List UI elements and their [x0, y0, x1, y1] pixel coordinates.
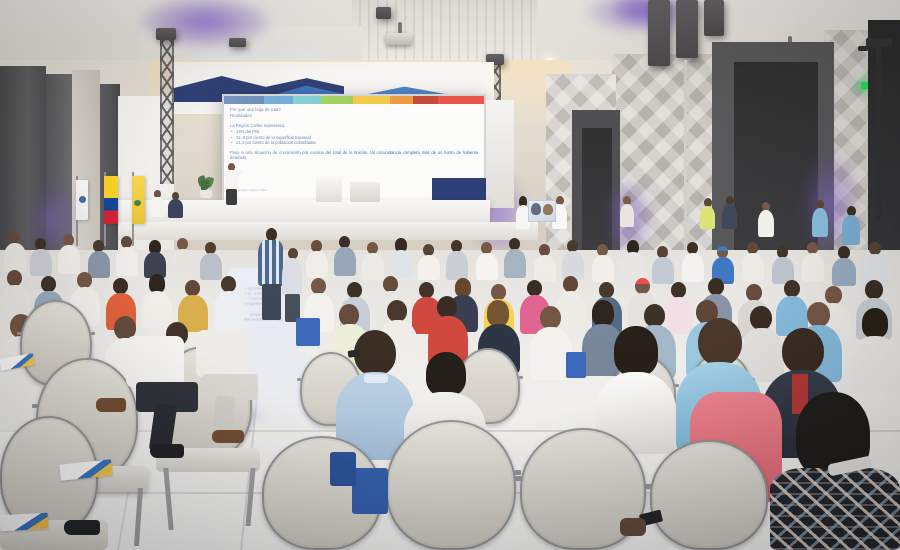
a-m18-head: [671, 282, 686, 298]
audience-back-7: [172, 238, 194, 278]
chair-fg-7: [650, 440, 768, 550]
audience-back-8: [200, 242, 222, 280]
a-fm11-head: [644, 304, 665, 327]
a-fm15-torso: [850, 336, 900, 392]
a-m9-head: [347, 282, 362, 298]
conference-hall-photo: Por qué una hoja de ruta? Realidades La …: [0, 0, 900, 550]
slide-bullet-3: 21,4 por ciento de la población colombia…: [230, 140, 478, 145]
plant-leaf-3: [201, 180, 209, 190]
back-standing-1-torso: [620, 204, 634, 227]
presenter-legs: [226, 189, 237, 205]
audience-back-3: [58, 234, 80, 274]
audience-back-13: [418, 244, 440, 280]
a-b9-torso: [306, 251, 328, 278]
truss-light-left: [156, 28, 176, 40]
audience-back-11: [362, 242, 384, 280]
audience-back-24: [742, 242, 764, 282]
a-m23-head: [865, 280, 883, 299]
fg-seated-shoe-left-2: [212, 430, 244, 443]
a-b15-torso: [476, 253, 498, 280]
a-b13-torso: [418, 255, 440, 280]
audience-back-19: [592, 244, 614, 282]
panel-member-2: [168, 192, 184, 220]
audience-front-7-patterned: [770, 392, 900, 550]
a-m16-head: [599, 282, 614, 298]
stage-side-panel: [486, 100, 514, 208]
a-m7-head: [221, 276, 236, 292]
acoustic-baffle-3: [704, 0, 724, 36]
a-b10-torso: [334, 247, 356, 276]
audience-back-10: [334, 236, 356, 276]
back-standing-2-torso: [700, 206, 715, 229]
slide-bar-4: [321, 96, 352, 104]
handheld-hand: [620, 518, 646, 536]
banner-portrait-1: [531, 203, 541, 215]
camera-tripod-arm: [858, 46, 868, 51]
a-m6-head: [185, 280, 200, 296]
a-b16-torso: [504, 249, 526, 278]
a-fm10-hair: [592, 300, 614, 326]
colombia-flag: [104, 176, 118, 224]
audience-back-14: [446, 240, 468, 280]
audience-back-17: [534, 244, 556, 282]
a-m20-head: [746, 284, 762, 301]
a-fm15-hair: [862, 308, 888, 338]
a-m19-head: [708, 278, 724, 295]
audience-back-5: [116, 236, 138, 276]
slide-bar-5: [353, 96, 390, 104]
slide-bar-6: [390, 96, 413, 104]
aisle-standing-person-2: [282, 248, 302, 322]
a-b1-torso: [4, 243, 26, 272]
a-b2-torso: [30, 249, 52, 276]
acoustic-baffle-1: [648, 0, 670, 66]
lectern: [316, 176, 342, 202]
institutional-flag-emblem: [79, 196, 86, 203]
audience-back-25: [772, 246, 794, 284]
a-m4-head: [113, 278, 128, 294]
a-fm6-head: [387, 300, 407, 322]
a-f7-torso-patterned-blouse: [770, 468, 900, 550]
slide-bar-8: [438, 96, 484, 104]
a-f1-head: [354, 330, 396, 376]
chair-fg-7-pad: [654, 444, 764, 546]
back-standing-2: [700, 198, 715, 230]
back-standing-4-torso: [758, 210, 774, 237]
a-fm14-head: [807, 302, 830, 327]
ceiling-projector: [386, 33, 412, 45]
a-f1-collar: [364, 374, 388, 383]
a-b24-torso: [742, 253, 764, 282]
banner-portrait-2: [543, 204, 553, 215]
stage-table: [350, 182, 380, 202]
a-b19-torso: [592, 255, 614, 282]
stage-presenter: [224, 163, 240, 205]
doorway-far-right: [868, 20, 900, 256]
camera-tripod-pole: [876, 40, 881, 220]
chair-fg-5-knob-l: [515, 476, 522, 481]
a-b5-torso: [116, 247, 138, 276]
back-standing-3: [722, 196, 737, 230]
back-standing-1: [620, 196, 634, 228]
a-b17-torso: [534, 255, 556, 282]
back-standing-6-torso: [842, 215, 860, 245]
a-f5-head: [782, 328, 824, 374]
audience-back-22: [682, 242, 704, 282]
slide-bullet-list: 14% del PIB 11, 6 por ciento de la super…: [230, 129, 478, 145]
lighting-truss-left: [160, 34, 174, 184]
a-m13-head: [491, 284, 506, 300]
fg-shoe-extra-2: [64, 520, 100, 535]
aisle-standing-person-plaid: [258, 228, 284, 320]
slide-bar-1: [224, 96, 264, 104]
fg-seated-torso-left-2: [196, 330, 250, 378]
a-f2-hair: [426, 352, 466, 396]
back-standing-6: [842, 206, 860, 246]
back-standing-5: [812, 200, 828, 238]
a-f3-hair: [614, 326, 658, 376]
a-m17-head-cap-red: [635, 278, 650, 294]
a-b26-torso: [802, 253, 824, 282]
brochure-on-seat-2: [0, 513, 48, 531]
fg-shoe-extra-1: [96, 398, 126, 412]
chair-fg-4-pad: [390, 424, 512, 546]
slide-paragraph: Pese a una situación de crecimiento por …: [230, 150, 478, 161]
chair-mid-2-knob-r: [519, 376, 523, 379]
acoustic-baffle-2: [676, 0, 698, 58]
audience-back-15: [476, 242, 498, 280]
a-b27-torso: [832, 258, 856, 286]
a-m10-head: [383, 276, 398, 292]
a-b7-torso: [172, 249, 194, 278]
a-f4-head: [698, 318, 742, 366]
camera-tripod-head: [866, 38, 892, 47]
back-standing-5-torso: [812, 208, 828, 237]
audience-back-12: [390, 238, 412, 278]
blue-bag-2: [352, 468, 388, 514]
a-fm5-head: [339, 304, 359, 326]
a-b3-torso: [58, 245, 80, 274]
slide-subtitle: Realidades: [230, 113, 478, 119]
audience-back-1: [4, 232, 26, 272]
slide-lead: La Región Caribe representa:: [230, 123, 478, 128]
panel-2-torso: [168, 199, 183, 218]
slide-bar-7: [413, 96, 439, 104]
stage-plant-pot: [200, 190, 212, 198]
panel-1-torso: [150, 197, 165, 217]
ceiling-baffle-1: [229, 38, 246, 47]
a-m7-torso: [214, 291, 244, 330]
back-standing-4: [758, 202, 774, 238]
wall-column-left-4: [100, 84, 120, 256]
audience-mid-7: [214, 276, 244, 330]
audience-back-20: [622, 240, 644, 280]
a-m21-head: [784, 280, 800, 297]
aisle-person-plaid-shirt: [258, 240, 284, 286]
a-m1-head: [7, 270, 22, 286]
a-m15-head: [563, 276, 578, 292]
aisle-person-2-torso: [282, 258, 302, 296]
wall-conduit-pipe: [684, 60, 687, 252]
back-standing-3-torso: [722, 204, 737, 229]
aisle-person-legs: [262, 284, 281, 320]
slide-bar-2: [264, 96, 293, 104]
fg-seated-shoe-left: [150, 444, 184, 458]
audience-back-26: [802, 242, 824, 282]
a-m2-head: [41, 276, 56, 292]
a-b12-torso: [390, 250, 412, 278]
a-m14-head: [527, 280, 542, 296]
a-m3-head: [77, 272, 92, 288]
ceiling-baffle-2: [376, 7, 391, 19]
a-b14-torso: [446, 251, 468, 280]
blue-bag-3: [330, 452, 356, 486]
chair-fg-far-knob-l: [17, 332, 21, 335]
a-fm9-head: [540, 306, 561, 329]
audience-back-27: [832, 246, 856, 286]
slide-bar-3: [293, 96, 322, 104]
chair-fg-far-knob-r: [91, 332, 95, 335]
a-m8-head: [311, 278, 326, 294]
blue-bag-4: [566, 352, 586, 378]
slide-color-bar: [224, 96, 484, 104]
chair-fg-7-knob-l: [645, 484, 652, 489]
a-fm8-hair: [487, 300, 509, 326]
panel-member-1: [150, 190, 166, 220]
audience-back-18: [562, 240, 584, 280]
chair-mid-1-knob-l: [297, 378, 301, 381]
regional-flag-emblem: [134, 200, 141, 206]
audience-back-9: [306, 240, 328, 278]
audience-back-2: [30, 238, 52, 276]
fg-seated-torso-left: [126, 336, 184, 388]
a-fm7-head: [437, 296, 457, 318]
chair-fg-4: [386, 420, 516, 550]
audience-back-6: [144, 240, 166, 278]
a-b20-torso: [622, 252, 644, 280]
audience-fm-15: [850, 308, 900, 392]
blue-bag-1: [296, 318, 320, 346]
audience-back-16: [504, 238, 526, 278]
chair-fg-1-knob-l: [32, 404, 38, 408]
